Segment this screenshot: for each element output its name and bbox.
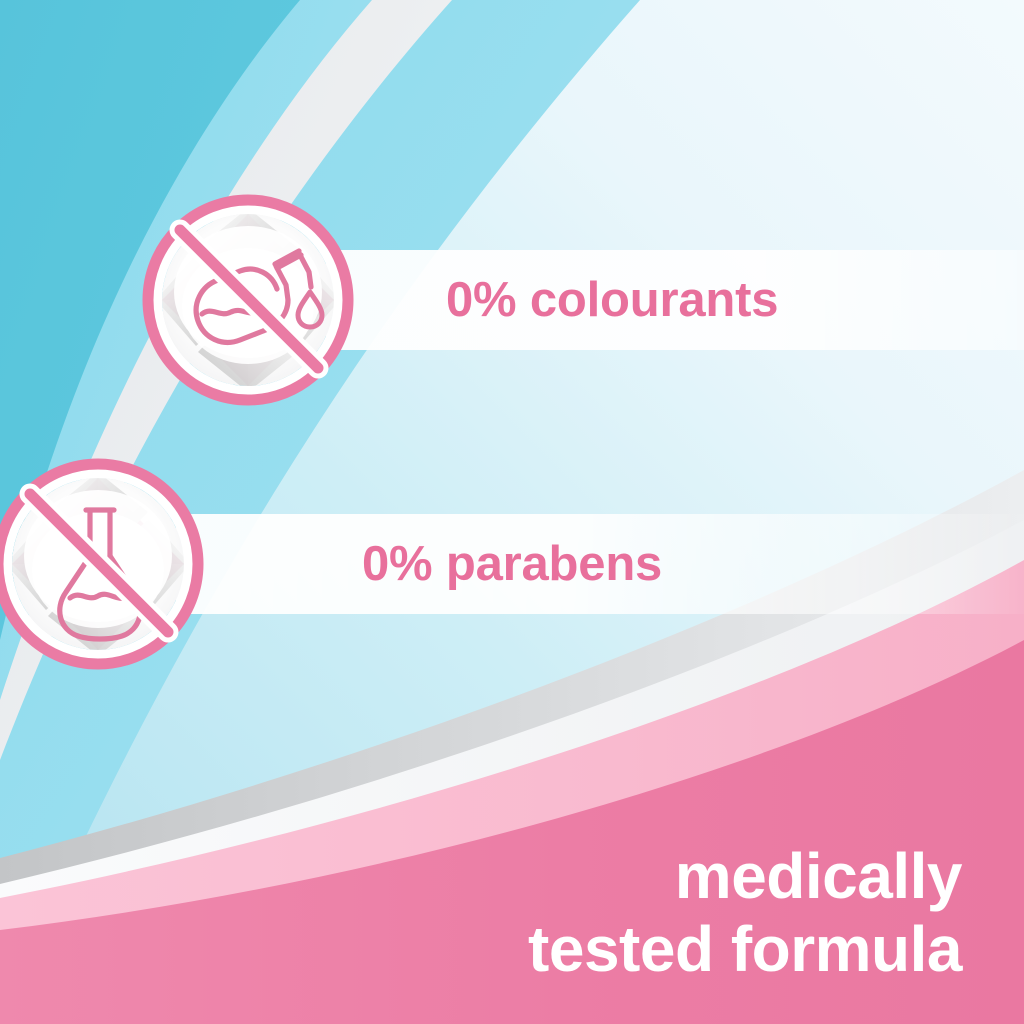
headline-line-2: tested formula — [528, 913, 962, 986]
no-colourants-icon — [136, 188, 360, 412]
benefit-label-colourants: 0% colourants — [446, 276, 778, 325]
headline-line-1: medically — [528, 840, 962, 913]
benefit-row-colourants: 0% colourants — [136, 188, 778, 412]
headline: medically tested formula — [528, 840, 962, 986]
benefit-label-parabens: 0% parabens — [362, 540, 662, 589]
no-parabens-icon — [0, 452, 210, 676]
promo-graphic: 0% colourants — [0, 0, 1024, 1024]
benefit-row-parabens: 0% parabens — [0, 452, 662, 676]
